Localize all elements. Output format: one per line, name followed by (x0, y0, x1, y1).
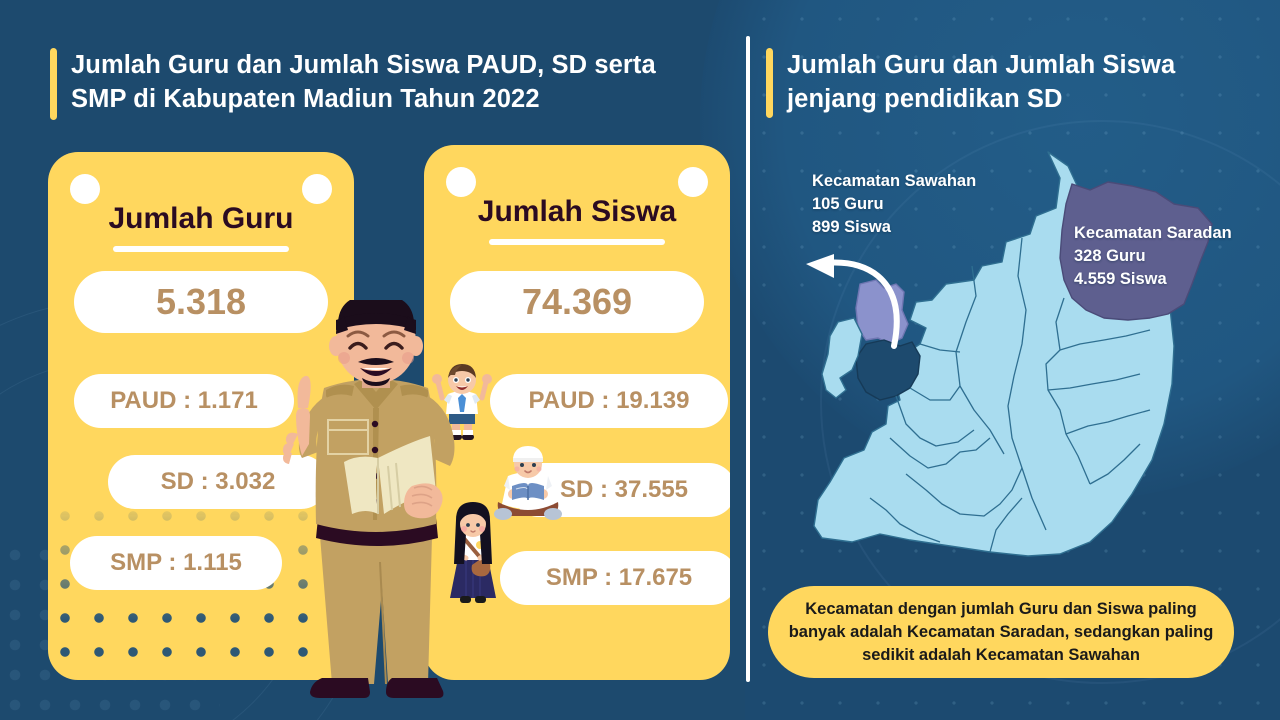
right-page-title: Jumlah Guru dan Jumlah Siswa jenjang pen… (787, 48, 1236, 116)
right-title-block: Jumlah Guru dan Jumlah Siswa jenjang pen… (766, 48, 1236, 118)
left-title-block: Jumlah Guru dan Jumlah Siswa PAUD, SD se… (50, 48, 710, 120)
vertical-divider (746, 36, 750, 682)
map-label-saradan-siswa: 4.559 Siswa (1074, 268, 1280, 291)
card-title-guru: Jumlah Guru (48, 202, 354, 236)
map-label-saradan-name: Kecamatan Saradan (1074, 222, 1280, 245)
map-label-sawahan-siswa: 899 Siswa (812, 216, 1042, 239)
summary-caption-box: Kecamatan dengan jumlah Guru dan Siswa p… (768, 586, 1234, 678)
punch-hole-left-icon (70, 174, 100, 204)
card-title-underline (489, 239, 665, 245)
guru-paud-value: PAUD : 1.171 (74, 374, 294, 428)
punch-hole-right-icon (678, 167, 708, 197)
summary-caption-text: Kecamatan dengan jumlah Guru dan Siswa p… (786, 598, 1216, 667)
title-accent-bar (766, 48, 773, 118)
punch-hole-right-icon (302, 174, 332, 204)
siswa-smp-value: SMP : 17.675 (500, 551, 730, 605)
card-title-underline (113, 246, 289, 252)
map-label-saradan-guru: 328 Guru (1074, 245, 1280, 268)
infographic-canvas: Jumlah Guru dan Jumlah Siswa PAUD, SD se… (0, 0, 1280, 720)
map-label-sawahan-guru: 105 Guru (812, 193, 1042, 216)
guru-smp-value: SMP : 1.115 (70, 536, 282, 590)
punch-hole-left-icon (446, 167, 476, 197)
title-accent-bar (50, 48, 57, 120)
map-label-saradan: Kecamatan Saradan 328 Guru 4.559 Siswa (1074, 222, 1280, 291)
teacher-illustration (262, 300, 492, 720)
map-label-sawahan: Kecamatan Sawahan 105 Guru 899 Siswa (812, 170, 1042, 239)
card-title-siswa: Jumlah Siswa (424, 195, 730, 229)
siswa-paud-value: PAUD : 19.139 (490, 374, 728, 428)
left-page-title: Jumlah Guru dan Jumlah Siswa PAUD, SD se… (71, 48, 710, 116)
map-label-sawahan-name: Kecamatan Sawahan (812, 170, 1042, 193)
map-region-sawahan (856, 280, 908, 344)
map-region-west (822, 318, 862, 398)
